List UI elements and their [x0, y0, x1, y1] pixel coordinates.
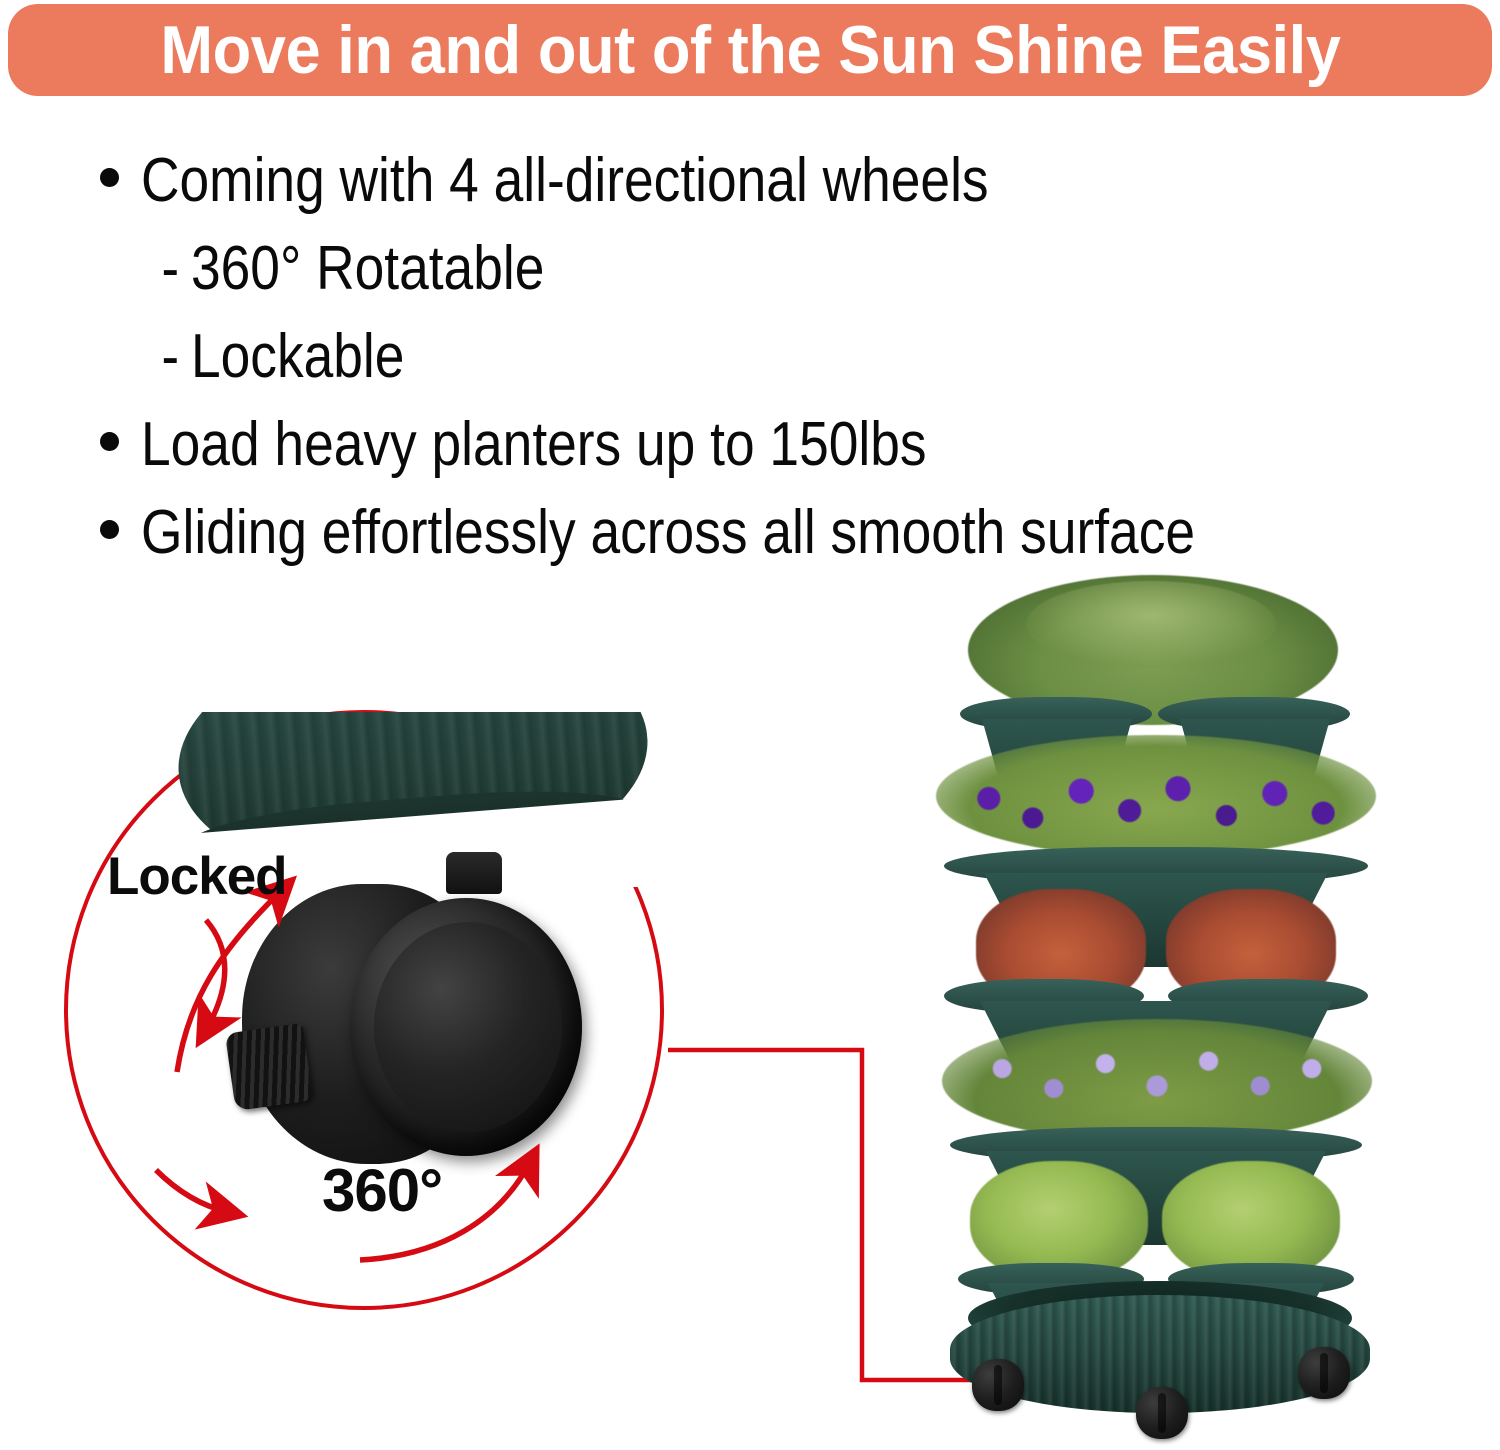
- feature-item: Load heavy planters up to 150lbs: [100, 414, 1480, 476]
- feature-item: Coming with 4 all-directional wheels: [100, 150, 1480, 212]
- shrub-foliage-hilite: [1026, 581, 1276, 667]
- planter-tier-purple-flowers: [930, 725, 1380, 865]
- feature-item: Gliding effortlessly across all smooth s…: [100, 502, 1480, 564]
- dash-icon: -: [162, 238, 180, 300]
- caster-wheel-front-center: [1136, 1387, 1188, 1439]
- purple-flower-mass: [936, 735, 1376, 857]
- lock-arrow-up: [177, 890, 282, 1072]
- feature-subitem: - Lockable: [100, 326, 1480, 388]
- feature-text: Load heavy planters up to 150lbs: [141, 414, 927, 476]
- locked-label: Locked: [107, 846, 287, 907]
- planter-caddy-base: [950, 1275, 1370, 1425]
- header-banner: Move in and out of the Sun Shine Easily: [8, 4, 1492, 96]
- bullet-icon: [100, 168, 119, 187]
- caster-wheel-front-right: [1298, 1347, 1350, 1399]
- feature-text: Coming with 4 all-directional wheels: [141, 150, 989, 212]
- feature-list: Coming with 4 all-directional wheels - 3…: [100, 150, 1480, 590]
- feature-text: Lockable: [191, 326, 404, 388]
- feature-subitem: - 360° Rotatable: [100, 238, 1480, 300]
- callout-arrows: [60, 700, 680, 1330]
- rotation-arrow-left: [156, 1170, 228, 1212]
- bullet-icon: [100, 520, 119, 539]
- caster-wheel-front-left: [972, 1359, 1024, 1411]
- stackable-planter-tower: [930, 575, 1380, 1435]
- lavender-flower-mass: [942, 1019, 1372, 1143]
- feature-text: 360° Rotatable: [191, 238, 544, 300]
- caster-detail-callout: Locked 360°: [60, 700, 680, 1330]
- feature-text: Gliding effortlessly across all smooth s…: [141, 502, 1195, 564]
- dash-icon: -: [162, 326, 180, 388]
- bullet-icon: [100, 432, 119, 451]
- page-title: Move in and out of the Sun Shine Easily: [160, 16, 1340, 84]
- rotation-label: 360°: [322, 1156, 442, 1225]
